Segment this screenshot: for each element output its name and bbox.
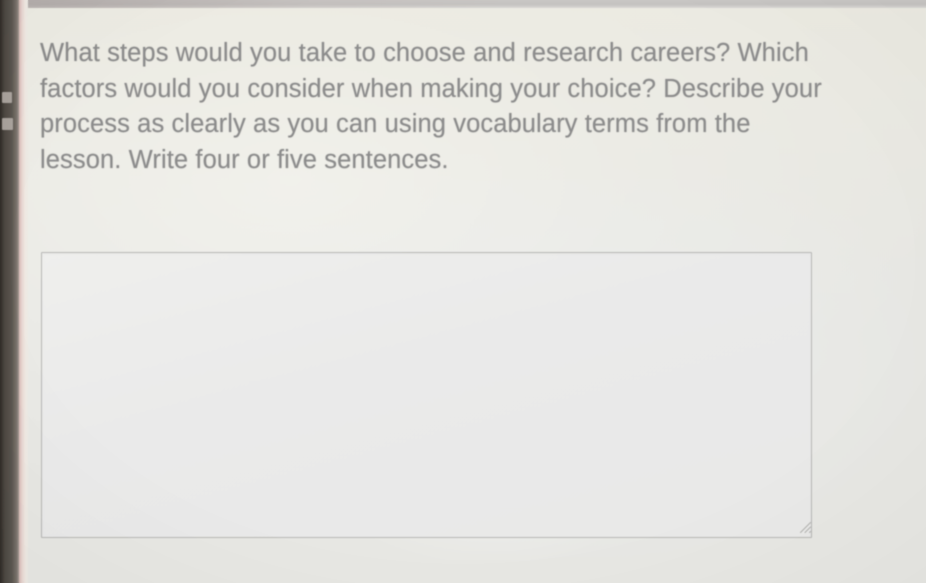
question-prompt: What steps would you take to choose and … — [40, 36, 830, 178]
left-bezel-edge — [19, 0, 28, 583]
bezel-mark — [2, 92, 12, 103]
top-edge-strip-highlight — [0, 0, 520, 8]
screen-photo: What steps would you take to choose and … — [0, 0, 926, 583]
top-edge-strip — [0, 0, 926, 8]
bezel-mark — [2, 118, 13, 130]
answer-textarea[interactable] — [41, 252, 812, 538]
left-bezel — [0, 0, 19, 583]
